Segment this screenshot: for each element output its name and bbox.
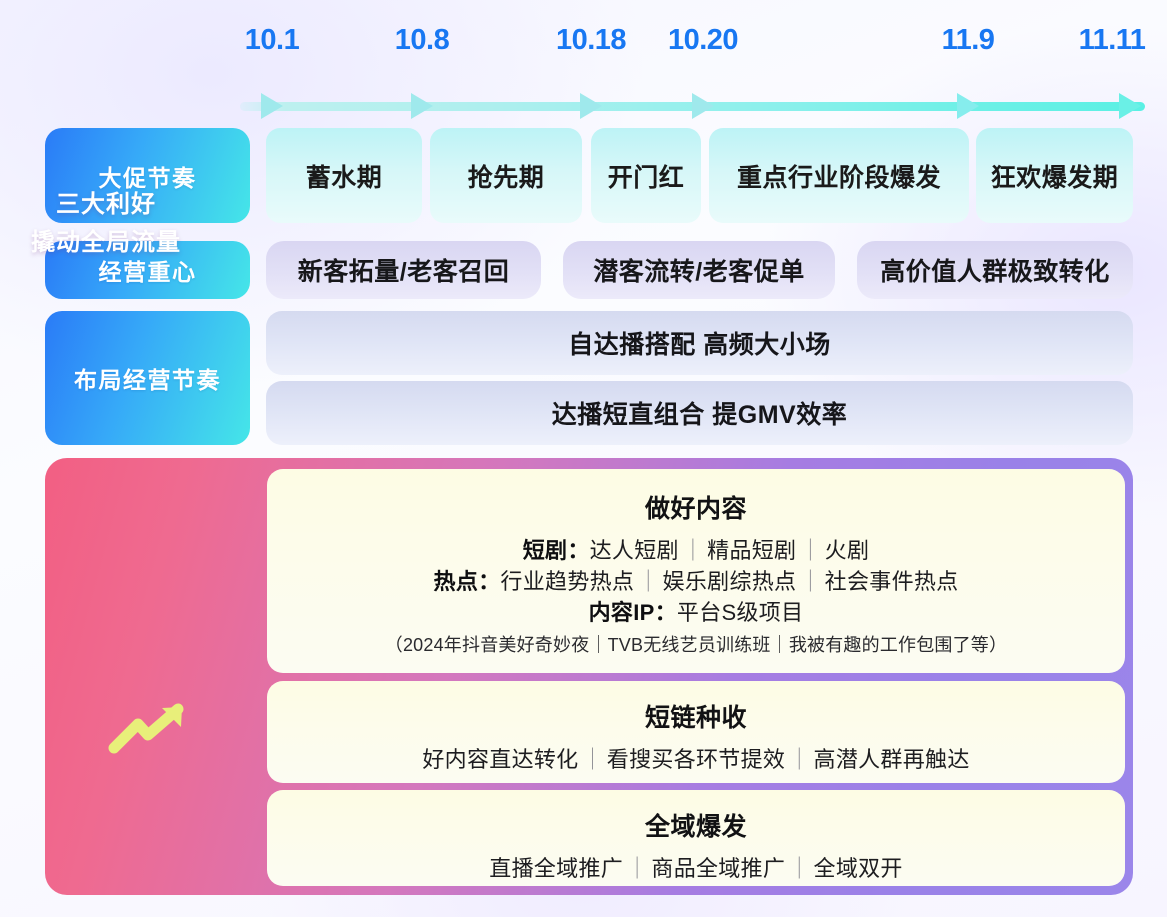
card-row-prefix-0-0: 短剧： [523, 538, 590, 563]
separator-icon: ｜ [796, 538, 824, 563]
card-row-item-0-0-0: 达人短剧 [590, 538, 679, 563]
timeline-arrow-icon-5 [1119, 93, 1141, 119]
card-row-item-0-2-0: 平台S级项目 [677, 600, 803, 625]
timeline-date-4: 11.9 [942, 18, 995, 62]
timeline-date-3: 10.20 [668, 18, 738, 62]
card-row-item-1-0-1: 看搜买各环节提效 [607, 747, 785, 772]
timeline-date-2: 10.18 [556, 18, 626, 62]
card-row-0-0: 短剧：达人短剧｜精品短剧｜火剧 [267, 535, 1125, 566]
card-row-1-0: 好内容直达转化｜看搜买各环节提效｜高潜人群再触达 [267, 744, 1125, 775]
content-card-0[interactable]: 做好内容 短剧：达人短剧｜精品短剧｜火剧 热点：行业趋势热点｜娱乐剧综热点｜社会… [267, 469, 1125, 673]
benefit-title-line1: 三大利好 [0, 186, 212, 224]
zigzag-arrow-icon [108, 702, 192, 754]
card-row-item-2-0-2: 全域双开 [814, 856, 903, 881]
separator-icon: ｜ [796, 569, 824, 594]
timeline-arrow-icon-3 [692, 93, 714, 119]
card-row-0-1: 热点：行业趋势热点｜娱乐剧综热点｜社会事件热点 [267, 566, 1125, 597]
timeline-date-1: 10.8 [395, 18, 449, 62]
phase-box-2[interactable]: 开门红 [591, 128, 701, 223]
rhythm-box-1[interactable]: 达播短直组合 提GMV效率 [266, 381, 1133, 445]
separator-icon: ｜ [679, 538, 707, 563]
phase-box-3[interactable]: 重点行业阶段爆发 [709, 128, 969, 223]
card-row-item-1-0-2: 高潜人群再触达 [814, 747, 970, 772]
focus-box-2[interactable]: 高价值人群极致转化 [857, 241, 1133, 299]
card-heading-1: 短链种收 [642, 698, 750, 734]
card-row-2-0: 直播全域推广｜商品全域推广｜全域双开 [267, 853, 1125, 884]
row-label-layout-rhythm: 布局经营节奏 [45, 311, 250, 445]
timeline-arrow-icon-0 [261, 93, 283, 119]
timeline-date-5: 11.11 [1079, 18, 1146, 62]
card-heading-wrap-2: 全域爆发 [267, 807, 1125, 843]
timeline-date-0: 10.1 [245, 18, 299, 62]
separator-icon: ｜ [578, 747, 606, 772]
card-row-item-0-0-1: 精品短剧 [707, 538, 796, 563]
card-row-item-0-1-1: 娱乐剧综热点 [663, 569, 797, 594]
card-heading-0: 做好内容 [642, 489, 750, 525]
phase-box-4[interactable]: 狂欢爆发期 [976, 128, 1133, 223]
separator-icon: ｜ [623, 856, 651, 881]
phase-box-1[interactable]: 抢先期 [430, 128, 582, 223]
phase-box-0[interactable]: 蓄水期 [266, 128, 422, 223]
card-row-item-0-0-2: 火剧 [825, 538, 870, 563]
separator-icon: ｜ [785, 856, 813, 881]
card-heading-wrap-0: 做好内容 [267, 489, 1125, 525]
timeline-arrow-icon-4 [957, 93, 979, 119]
card-row-item-2-0-1: 商品全域推广 [651, 856, 785, 881]
card-row-prefix-0-1: 热点： [434, 569, 501, 594]
separator-icon: ｜ [785, 747, 813, 772]
focus-box-1[interactable]: 潜客流转/老客促单 [563, 241, 835, 299]
rhythm-box-0[interactable]: 自达播搭配 高频大小场 [266, 311, 1133, 375]
benefit-panel-title: 三大利好 撬动全局流量 [0, 186, 212, 262]
content-card-2[interactable]: 全域爆发 直播全域推广｜商品全域推广｜全域双开 [267, 790, 1125, 886]
card-heading-wrap-1: 短链种收 [267, 698, 1125, 734]
card-row-prefix-0-2: 内容IP： [589, 600, 677, 625]
card-note-0: （2024年抖音美好奇妙夜｜TVB无线艺员训练班｜我被有趣的工作包围了等） [267, 631, 1125, 659]
card-row-0-2: 内容IP：平台S级项目 [267, 597, 1125, 628]
focus-box-0[interactable]: 新客拓量/老客召回 [266, 241, 541, 299]
card-row-item-2-0-0: 直播全域推广 [489, 856, 623, 881]
benefit-title-line2: 撬动全局流量 [0, 224, 212, 262]
card-row-item-1-0-0: 好内容直达转化 [422, 747, 578, 772]
content-card-1[interactable]: 短链种收 好内容直达转化｜看搜买各环节提效｜高潜人群再触达 [267, 681, 1125, 783]
card-row-item-0-1-2: 社会事件热点 [825, 569, 959, 594]
timeline-arrow-icon-2 [580, 93, 602, 119]
timeline: 10.1 10.8 10.18 10.20 11.9 11.11 [240, 18, 1145, 110]
timeline-arrow-icon-1 [411, 93, 433, 119]
separator-icon: ｜ [634, 569, 662, 594]
card-heading-2: 全域爆发 [642, 807, 750, 843]
card-row-item-0-1-0: 行业趋势热点 [500, 569, 634, 594]
